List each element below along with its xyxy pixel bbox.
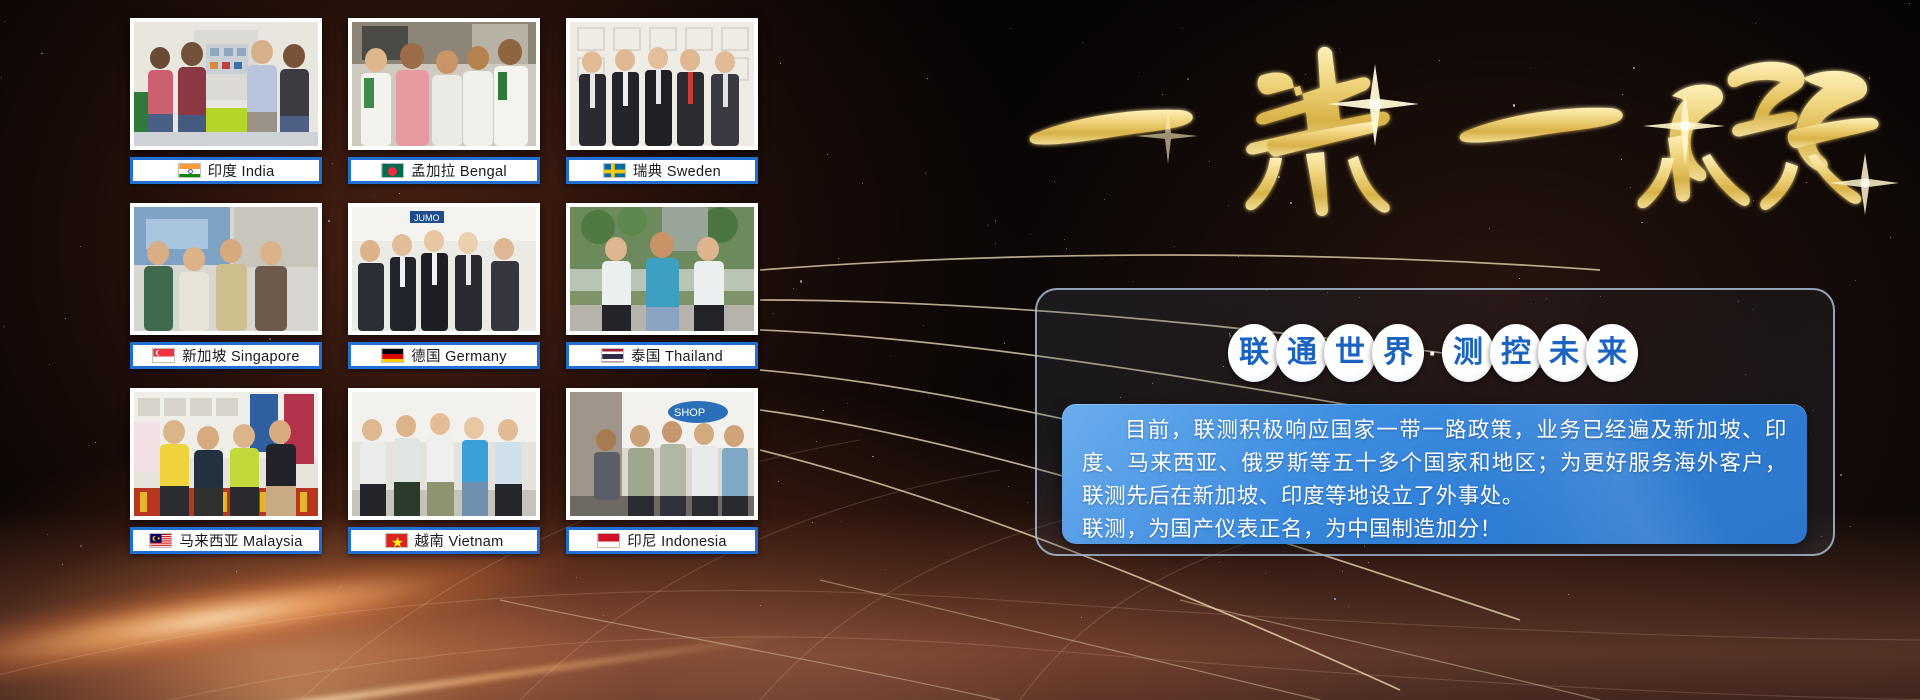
country-label-text: 印尼 Indonesia	[627, 530, 727, 551]
country-label: 德国 Germany	[348, 342, 540, 369]
photo-frame	[130, 203, 322, 335]
flag-india	[178, 163, 201, 178]
svg-text:JUMO: JUMO	[414, 213, 440, 223]
flag-bangladesh	[381, 163, 404, 178]
photo-india-booth	[134, 22, 318, 146]
photo-sweden-suits	[570, 22, 754, 146]
flag-germany	[381, 348, 404, 363]
country-label: 孟加拉 Bengal	[348, 157, 540, 184]
photo-germany-booth: JUMO	[352, 207, 536, 331]
country-label: 泰国 Thailand	[566, 342, 758, 369]
flag-singapore	[152, 348, 175, 363]
country-label: 印度 India	[130, 157, 322, 184]
slogan-char: 联	[1228, 324, 1280, 382]
photo-frame	[348, 388, 540, 520]
photo-thailand-outdoor	[570, 207, 754, 331]
calligraphy-title	[1020, 8, 1900, 218]
photo-frame: SHOP	[566, 388, 758, 520]
country-label-text: 泰国 Thailand	[631, 345, 723, 366]
flag-vietnam	[385, 533, 408, 548]
flag-sweden	[603, 163, 626, 178]
photo-indonesia-office: SHOP	[570, 392, 754, 516]
gallery-card[interactable]: 新加坡 Singapore	[130, 203, 322, 369]
country-label: 印尼 Indonesia	[566, 527, 758, 554]
slogan-char: 未	[1538, 324, 1590, 382]
svg-text:SHOP: SHOP	[674, 407, 705, 419]
photo-vietnam-group	[352, 392, 536, 516]
slogan-char: 控	[1490, 324, 1542, 382]
gallery-card[interactable]: 泰国 Thailand	[566, 203, 758, 369]
calligraphy-strokes	[1030, 47, 1879, 216]
photo-malaysia-expo	[134, 392, 318, 516]
country-label-text: 越南 Vietnam	[415, 530, 504, 551]
flag-malaysia	[149, 533, 172, 548]
photo-frame	[130, 18, 322, 150]
slogan-headline: 联 通 世 界 · 测 控 未 来	[1155, 322, 1715, 384]
gallery-card[interactable]: 瑞典 Sweden	[566, 18, 758, 184]
country-label: 瑞典 Sweden	[566, 157, 758, 184]
country-label-text: 瑞典 Sweden	[633, 160, 721, 181]
photo-frame: JUMO	[348, 203, 540, 335]
panel-paragraph-2: 联测，为国产仪表正名，为中国制造加分！	[1062, 513, 1807, 544]
photo-frame	[566, 203, 758, 335]
banner-root: 印度 India	[0, 0, 1920, 700]
photo-frame	[130, 388, 322, 520]
photo-frame	[348, 18, 540, 150]
country-label: 马来西亚 Malaysia	[130, 527, 322, 554]
slogan-char: 通	[1276, 324, 1328, 382]
country-label: 越南 Vietnam	[348, 527, 540, 554]
gallery-card[interactable]: 马来西亚 Malaysia	[130, 388, 322, 554]
gallery-card[interactable]: SHOP 印尼 Indones	[566, 388, 758, 554]
photo-frame	[566, 18, 758, 150]
gallery-card[interactable]: 印度 India	[130, 18, 322, 184]
flag-thailand	[601, 348, 624, 363]
country-label-text: 马来西亚 Malaysia	[179, 530, 302, 551]
slogan-char: 测	[1442, 324, 1494, 382]
flag-indonesia	[597, 533, 620, 548]
country-photo-gallery: 印度 India	[130, 18, 758, 580]
slogan-char: 来	[1586, 324, 1638, 382]
gallery-card[interactable]: JUMO 德国 Germany	[348, 203, 540, 369]
country-label-text: 孟加拉 Bengal	[411, 160, 507, 181]
photo-bengal-group	[352, 22, 536, 146]
slogan-char: 世	[1324, 324, 1376, 382]
country-label-text: 新加坡 Singapore	[182, 345, 300, 366]
country-label-text: 德国 Germany	[411, 345, 507, 366]
photo-singapore-meeting	[134, 207, 318, 331]
info-panel: 目前，联测积极响应国家一带一路政策，业务已经遍及新加坡、印度、马来西亚、俄罗斯等…	[1062, 404, 1807, 544]
slogan-char: 界	[1372, 324, 1424, 382]
gallery-card[interactable]: 越南 Vietnam	[348, 388, 540, 554]
gallery-card[interactable]: 孟加拉 Bengal	[348, 18, 540, 184]
panel-paragraph-1: 目前，联测积极响应国家一带一路政策，业务已经遍及新加坡、印度、马来西亚、俄罗斯等…	[1062, 404, 1807, 513]
country-label-text: 印度 India	[208, 160, 275, 181]
country-label: 新加坡 Singapore	[130, 342, 322, 369]
